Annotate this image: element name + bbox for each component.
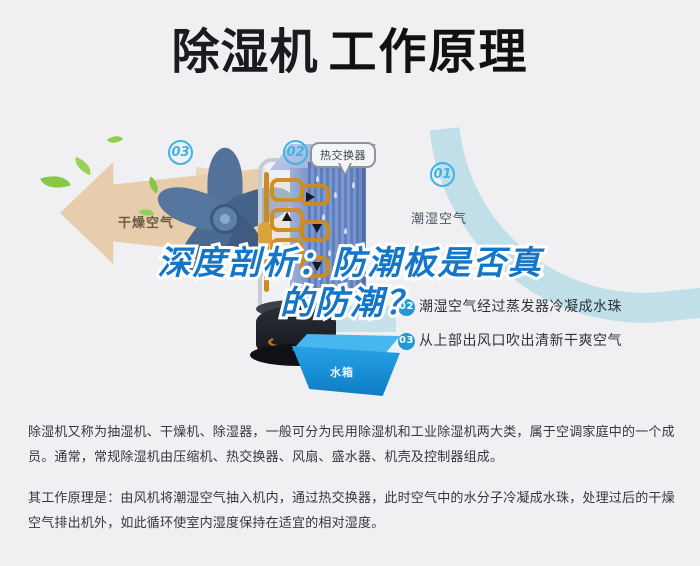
step-badge-01: 01 bbox=[430, 162, 455, 187]
article-paragraph-2: 其工作原理是：由风机将潮湿空气抽入机内，通过热交换器，此时空气中的水分子冷凝成水… bbox=[28, 486, 676, 536]
flow-arrow-down-icon bbox=[312, 262, 322, 271]
step-number-badge: 03 bbox=[398, 333, 415, 350]
infographic-page: 除湿机工作原理 干燥空气 bbox=[0, 0, 700, 566]
water-drop-icon bbox=[328, 250, 331, 256]
dehumidifier-diagram: 干燥空气 bbox=[0, 120, 700, 405]
step-item: 03从上部出风口吹出清新干爽空气 bbox=[398, 332, 698, 350]
water-drop-icon bbox=[316, 176, 319, 182]
flow-arrow-right-icon bbox=[306, 192, 315, 202]
flow-arrow-up-icon bbox=[282, 212, 292, 221]
step-text: 从上部出风口吹出清新干爽空气 bbox=[419, 333, 622, 349]
humid-air-label: 潮湿空气 bbox=[411, 208, 467, 227]
article-body: 除湿机又称为抽湿机、干燥机、除湿器，一般可分为民用除湿机和工业除湿机两大类，属于… bbox=[28, 420, 676, 552]
page-title-main: 除湿机 bbox=[171, 28, 318, 76]
water-drop-icon bbox=[352, 182, 355, 188]
leaf-icon bbox=[71, 157, 94, 176]
flow-arrow-up-icon bbox=[282, 248, 292, 257]
water-drop-icon bbox=[344, 228, 347, 234]
step-text: 潮湿空气经过蒸发器冷凝成水珠 bbox=[419, 299, 622, 315]
water-tank-label: 水箱 bbox=[330, 364, 354, 380]
copper-coil-icon bbox=[300, 184, 330, 206]
water-drop-icon bbox=[334, 192, 337, 198]
water-drop-icon bbox=[354, 262, 357, 268]
step-badge-02: 02 bbox=[283, 140, 308, 165]
step-item: 02潮湿空气经过蒸发器冷凝成水珠 bbox=[398, 298, 698, 316]
callout-pointer-icon bbox=[338, 163, 352, 176]
step-list: 02潮湿空气经过蒸发器冷凝成水珠 03从上部出风口吹出清新干爽空气 bbox=[398, 298, 698, 366]
step-number-badge: 02 bbox=[398, 299, 415, 316]
step-badge-03: 03 bbox=[168, 140, 193, 165]
page-title: 除湿机工作原理 bbox=[0, 28, 700, 76]
copper-coil-icon bbox=[270, 178, 304, 202]
leaf-icon bbox=[40, 170, 71, 194]
water-tank: 水箱 bbox=[292, 334, 400, 396]
flow-arrow-left-icon bbox=[292, 284, 301, 294]
page-title-sub: 工作原理 bbox=[329, 28, 529, 76]
leaf-icon bbox=[107, 132, 124, 147]
flow-arrow-down-icon bbox=[312, 224, 322, 233]
article-paragraph-1: 除湿机又称为抽湿机、干燥机、除湿器，一般可分为民用除湿机和工业除湿机两大类，属于… bbox=[28, 420, 676, 470]
fan-hub-icon bbox=[210, 204, 240, 234]
